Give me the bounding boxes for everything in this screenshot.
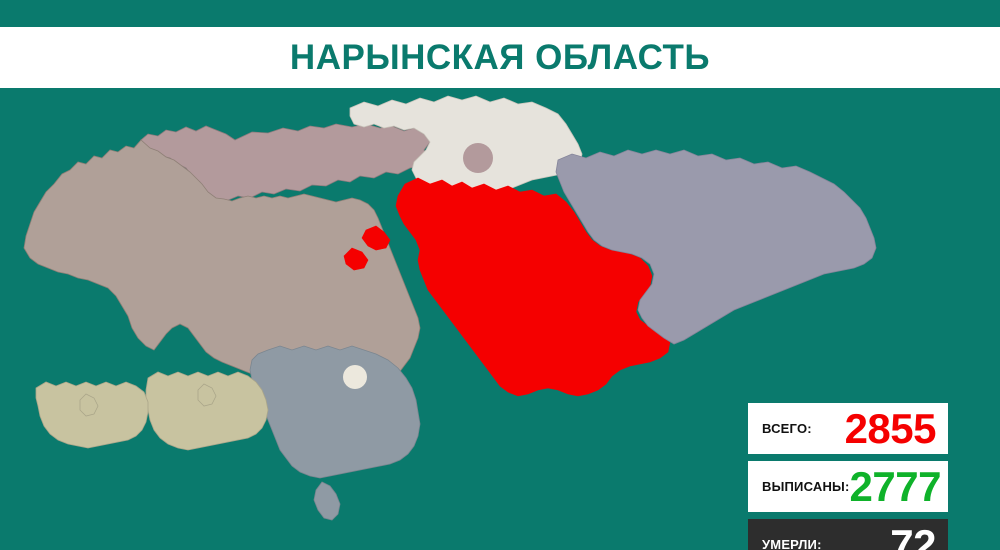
stat-row-deaths[interactable]: УМЕРЛИ: 72 xyxy=(748,519,948,550)
region-batken[interactable] xyxy=(36,382,148,448)
stat-label-recovered: ВЫПИСАНЫ: xyxy=(762,480,850,493)
stat-value-deaths: 72 xyxy=(890,524,936,550)
stats-panel: ВСЕГО: 2855 ВЫПИСАНЫ: 2777 УМЕРЛИ: 72 xyxy=(748,403,948,550)
city-marker-osh[interactable] xyxy=(343,365,367,389)
infographic-root: НАРЫНСКАЯ ОБЛАСТЬ xyxy=(0,0,1000,550)
stat-row-recovered[interactable]: ВЫПИСАНЫ: 2777 xyxy=(748,461,948,512)
page-title: НАРЫНСКАЯ ОБЛАСТЬ xyxy=(290,40,710,75)
region-osh[interactable] xyxy=(146,372,268,450)
top-accent-strip xyxy=(0,0,1000,27)
stat-value-recovered: 2777 xyxy=(850,466,941,508)
stat-label-deaths: УМЕРЛИ: xyxy=(762,538,822,550)
stat-label-total: ВСЕГО: xyxy=(762,422,812,435)
stat-row-total[interactable]: ВСЕГО: 2855 xyxy=(748,403,948,454)
title-band: НАРЫНСКАЯ ОБЛАСТЬ xyxy=(0,27,1000,88)
region-jalal-abad[interactable] xyxy=(250,346,420,520)
stat-value-total: 2855 xyxy=(845,408,936,450)
map-container: ВСЕГО: 2855 ВЫПИСАНЫ: 2777 УМЕРЛИ: 72 xyxy=(0,88,1000,550)
city-marker-bishkek[interactable] xyxy=(463,143,493,173)
